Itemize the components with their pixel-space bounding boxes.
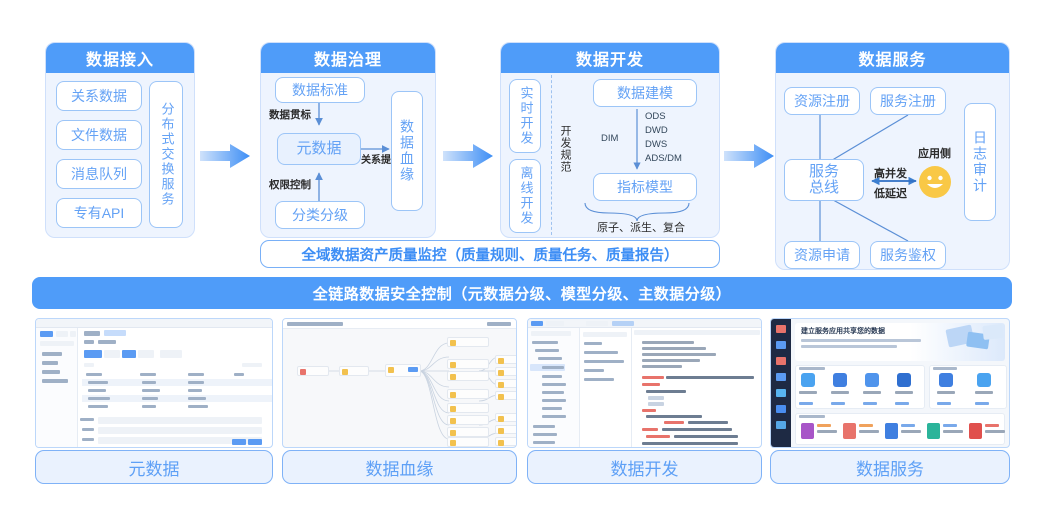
- label-app-side: 应用侧: [918, 145, 951, 161]
- label-metric-types: 原子、派生、复合: [597, 219, 685, 235]
- flow-arrow-1: [200, 143, 252, 169]
- thumbnail-card-metadata: 元数据: [35, 318, 273, 486]
- quality-monitoring-bar: 全域数据资产质量监控（质量规则、质量任务、质量报告）: [260, 240, 720, 268]
- chip-offline-development[interactable]: 离线开发: [509, 159, 541, 233]
- panel-service-title: 数据服务: [776, 43, 1009, 73]
- label-layer-dim: DIM: [601, 133, 618, 144]
- flow-arrow-3: [724, 143, 776, 169]
- label-low-latency: 低延迟: [874, 185, 907, 201]
- label-layer-dws: DWS: [645, 139, 667, 150]
- thumbnail-card-service: 建立服务应用共享您的数据: [770, 318, 1010, 486]
- panel-data-ingest: 数据接入 关系数据 文件数据 消息队列 专有API 分布式交换服务: [45, 42, 195, 238]
- label-data-standardization: 数据贯标: [269, 107, 311, 122]
- development-divider: [551, 75, 552, 235]
- panel-governance-title: 数据治理: [261, 43, 435, 73]
- chip-file-data[interactable]: 文件数据: [56, 120, 142, 150]
- thumbnail-caption-lineage: 数据血缘: [282, 450, 517, 484]
- chip-service-register[interactable]: 服务注册: [870, 87, 946, 115]
- panel-development-title: 数据开发: [501, 43, 719, 73]
- thumbnail-caption-development: 数据开发: [527, 450, 762, 484]
- chip-message-queue[interactable]: 消息队列: [56, 159, 142, 189]
- chip-data-lineage[interactable]: 数据血缘: [391, 91, 423, 211]
- chip-proprietary-api[interactable]: 专有API: [56, 198, 142, 228]
- chip-distributed-exchange-service[interactable]: 分布式交换服务: [149, 81, 183, 228]
- panel-data-governance: 数据治理 数据标准 数据贯标 元数据 权限控制 分类分级 关系提取 数据血缘: [260, 42, 436, 238]
- thumbnail-card-development: 数据开发: [527, 318, 762, 486]
- chip-resource-apply[interactable]: 资源申请: [784, 241, 860, 269]
- chip-service-bus[interactable]: 服务 总线: [784, 159, 864, 201]
- panel-data-service: 数据服务 资源注册 服务注册 服务 总线 高并发: [775, 42, 1010, 270]
- label-layer-ads-dm: ADS/DM: [645, 153, 682, 164]
- thumbnail-caption-service: 数据服务: [770, 450, 1010, 484]
- service-portal-headline: 建立服务应用共享您的数据: [801, 326, 885, 336]
- chip-service-auth[interactable]: 服务鉴权: [870, 241, 946, 269]
- chip-log-audit[interactable]: 日志审计: [964, 103, 996, 221]
- flow-arrow-2: [443, 143, 495, 169]
- chip-data-modeling[interactable]: 数据建模: [593, 79, 697, 107]
- chip-relational-data[interactable]: 关系数据: [56, 81, 142, 111]
- thumbnail-card-lineage: 数据血缘: [282, 318, 517, 486]
- panel-data-development: 数据开发 实时开发 离线开发 开发规范 数据建模 DIM ODS DWD DWS…: [500, 42, 720, 238]
- screenshot-code-editor[interactable]: [527, 318, 762, 448]
- chip-metadata[interactable]: 元数据: [277, 133, 361, 165]
- label-development-spec: 开发规范: [557, 125, 573, 173]
- chip-classification-grading[interactable]: 分类分级: [275, 201, 365, 229]
- chip-realtime-development[interactable]: 实时开发: [509, 79, 541, 153]
- label-layer-ods: ODS: [645, 111, 666, 122]
- screenshot-lineage-graph[interactable]: [282, 318, 517, 448]
- label-high-concurrency: 高并发: [874, 165, 907, 181]
- architecture-diagram: 数据接入 关系数据 文件数据 消息队列 专有API 分布式交换服务 数据治理: [0, 0, 1043, 526]
- panel-ingest-title: 数据接入: [46, 43, 194, 73]
- chip-metric-model[interactable]: 指标模型: [593, 173, 697, 201]
- label-layer-dwd: DWD: [645, 125, 668, 136]
- security-control-banner: 全链路数据安全控制（元数据分级、模型分级、主数据分级）: [32, 277, 1012, 309]
- thumbnail-caption-metadata: 元数据: [35, 450, 273, 484]
- screenshot-metadata-console[interactable]: [35, 318, 273, 448]
- chip-resource-register[interactable]: 资源注册: [784, 87, 860, 115]
- service-bus-line1: 服务 总线: [809, 164, 839, 196]
- chip-data-standard[interactable]: 数据标准: [275, 77, 365, 103]
- label-permission-control: 权限控制: [269, 177, 311, 192]
- smiley-face-icon: [918, 165, 952, 199]
- screenshot-service-portal[interactable]: 建立服务应用共享您的数据: [770, 318, 1010, 448]
